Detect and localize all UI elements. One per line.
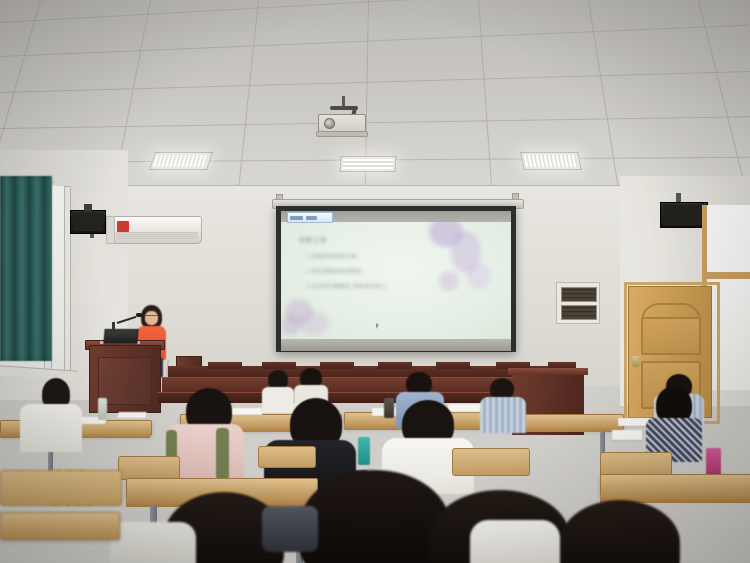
slide-flower-midright xyxy=(439,271,459,291)
foreground-desk-left xyxy=(0,512,120,540)
bench-divider xyxy=(320,362,354,369)
foreground-chair xyxy=(0,470,122,506)
air-conditioner-vent xyxy=(116,232,198,240)
student-chair xyxy=(258,446,316,468)
door-panel-upper xyxy=(641,317,701,355)
student-white-blouse xyxy=(20,404,82,452)
screen-weight-bar xyxy=(281,339,511,351)
student-foreground-bag xyxy=(262,506,318,552)
speaker-left-grille xyxy=(73,213,103,231)
wall-vent-panel xyxy=(556,282,600,324)
student-chair xyxy=(118,456,180,480)
thermos-dark xyxy=(384,398,394,418)
ceiling-light-center xyxy=(339,156,396,172)
thermos-clear xyxy=(98,398,107,420)
student-chair xyxy=(452,448,530,476)
slide-bullet-2: 2.研究视角具有创新性。 xyxy=(306,268,368,275)
mouse-cursor-icon xyxy=(376,323,379,329)
speaker-left xyxy=(70,210,106,234)
wall-vent-grille-bottom xyxy=(561,305,597,320)
slide-bullet-1: 1.选题具有实际价值。 xyxy=(306,253,362,260)
slide-bullet-3: 3.实证研究数据足,具有现实意义。 xyxy=(306,283,392,290)
classroom-photo: 创新之处 1.选题具有实际价值。 2.研究视角具有创新性。 3.实证研究数据足,… xyxy=(0,0,750,563)
paper-stack xyxy=(228,408,262,415)
speaker-right-grille xyxy=(663,205,705,225)
student-foreground-left-shoulder xyxy=(110,522,196,563)
bench-divider xyxy=(436,362,470,369)
wall-vent-grille-top xyxy=(561,287,597,302)
projector-shadow-plate xyxy=(316,131,368,137)
ceiling-light-left xyxy=(149,152,213,170)
microphone-base xyxy=(112,322,115,336)
air-conditioner-badge xyxy=(117,221,129,232)
ceiling-light-right xyxy=(520,152,582,170)
student-backpack-strap xyxy=(216,428,229,480)
curtain xyxy=(0,176,52,361)
speaker-right-bracket xyxy=(676,193,681,202)
paper-reading-sheet xyxy=(612,430,642,440)
air-conditioner-pipe xyxy=(106,216,115,244)
air-conditioner xyxy=(112,216,202,244)
slide-flower-topright-c xyxy=(467,263,491,289)
student-foreground-white-top xyxy=(470,520,560,563)
speaker-right xyxy=(660,202,708,228)
right-lectern-top xyxy=(508,368,588,375)
bench-divider xyxy=(208,362,242,369)
bench-divider xyxy=(262,362,296,369)
right-window-mullion xyxy=(702,272,750,279)
laptop[interactable] xyxy=(103,329,138,344)
bench-divider xyxy=(378,362,412,369)
speaker-left-mount xyxy=(84,204,92,211)
door-handle[interactable] xyxy=(632,356,639,367)
projector-lens xyxy=(324,118,335,129)
slide-flower-bottomleft-b xyxy=(299,311,329,335)
projector-osd-bar xyxy=(287,212,333,223)
slide-flower-bottomleft-c xyxy=(281,315,301,335)
microphone xyxy=(136,313,142,317)
student-foreground-right xyxy=(560,500,680,563)
thermos-teal xyxy=(358,437,370,465)
slide-title: 创新之处 xyxy=(299,234,327,244)
screen-surface xyxy=(281,211,511,339)
student-striped-shirt xyxy=(480,397,526,433)
paper-stack xyxy=(117,412,146,418)
presenter-glasses xyxy=(145,315,158,319)
student-back-row-torso xyxy=(262,387,294,413)
paper-stack xyxy=(448,404,484,412)
